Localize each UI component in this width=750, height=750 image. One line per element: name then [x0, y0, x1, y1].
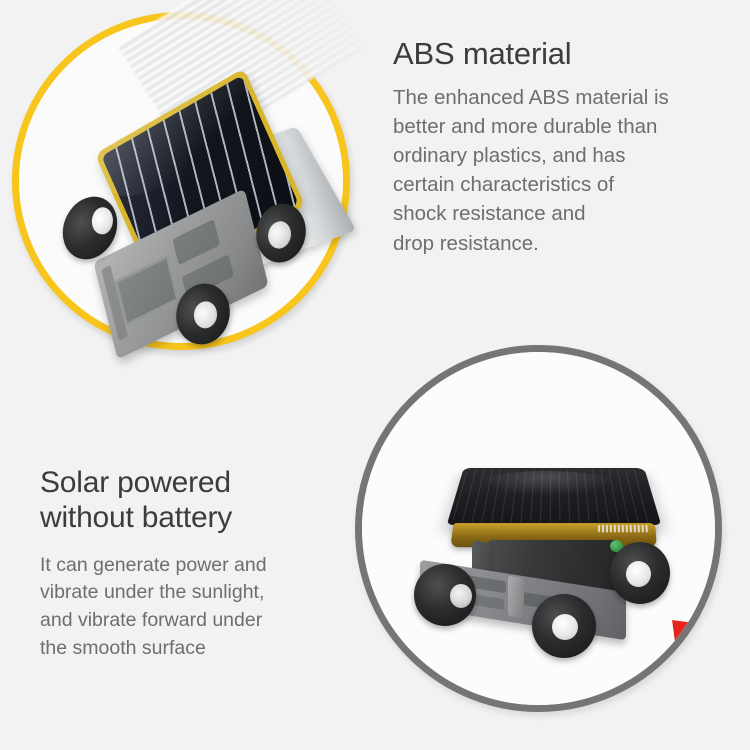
chassis-slot-top-2 [172, 219, 220, 265]
wheel-bottom-front [532, 594, 596, 658]
solar-powered-body: It can generate power and vibrate under … [40, 552, 358, 663]
infographic-canvas: ABS material The enhanced ABS material i… [0, 0, 750, 750]
wheel-hub [552, 614, 578, 640]
product-photo-bottom-right [362, 352, 715, 705]
solar-powered-text-block: Solar powered without battery It can gen… [40, 466, 358, 662]
wheel-hub [450, 584, 472, 608]
solar-car-front-illustration [414, 448, 686, 660]
direction-arrow-icon [652, 608, 715, 700]
solar-panel-sheen-bottom [475, 471, 617, 495]
product-photo-top-left [19, 19, 343, 343]
pcb-solder-speckle [598, 525, 650, 532]
chassis-slot-top-1 [114, 255, 179, 327]
wheel-hub [265, 217, 295, 254]
chassis-post [508, 576, 524, 619]
wheel-bottom-left [414, 564, 476, 626]
direction-arrow [652, 608, 715, 700]
wheel-hub [89, 203, 117, 239]
solar-panel-bottom [447, 468, 662, 525]
wheel-hub [626, 561, 651, 587]
wheel-bottom-right [610, 542, 670, 604]
solar-car-angled-illustration [59, 77, 349, 347]
solar-powered-heading: Solar powered without battery [40, 466, 358, 536]
abs-material-heading: ABS material [393, 36, 723, 72]
abs-material-text-block: ABS material The enhanced ABS material i… [393, 36, 723, 258]
abs-material-body: The enhanced ABS material is better and … [393, 83, 723, 258]
wheel-hub [190, 297, 221, 333]
